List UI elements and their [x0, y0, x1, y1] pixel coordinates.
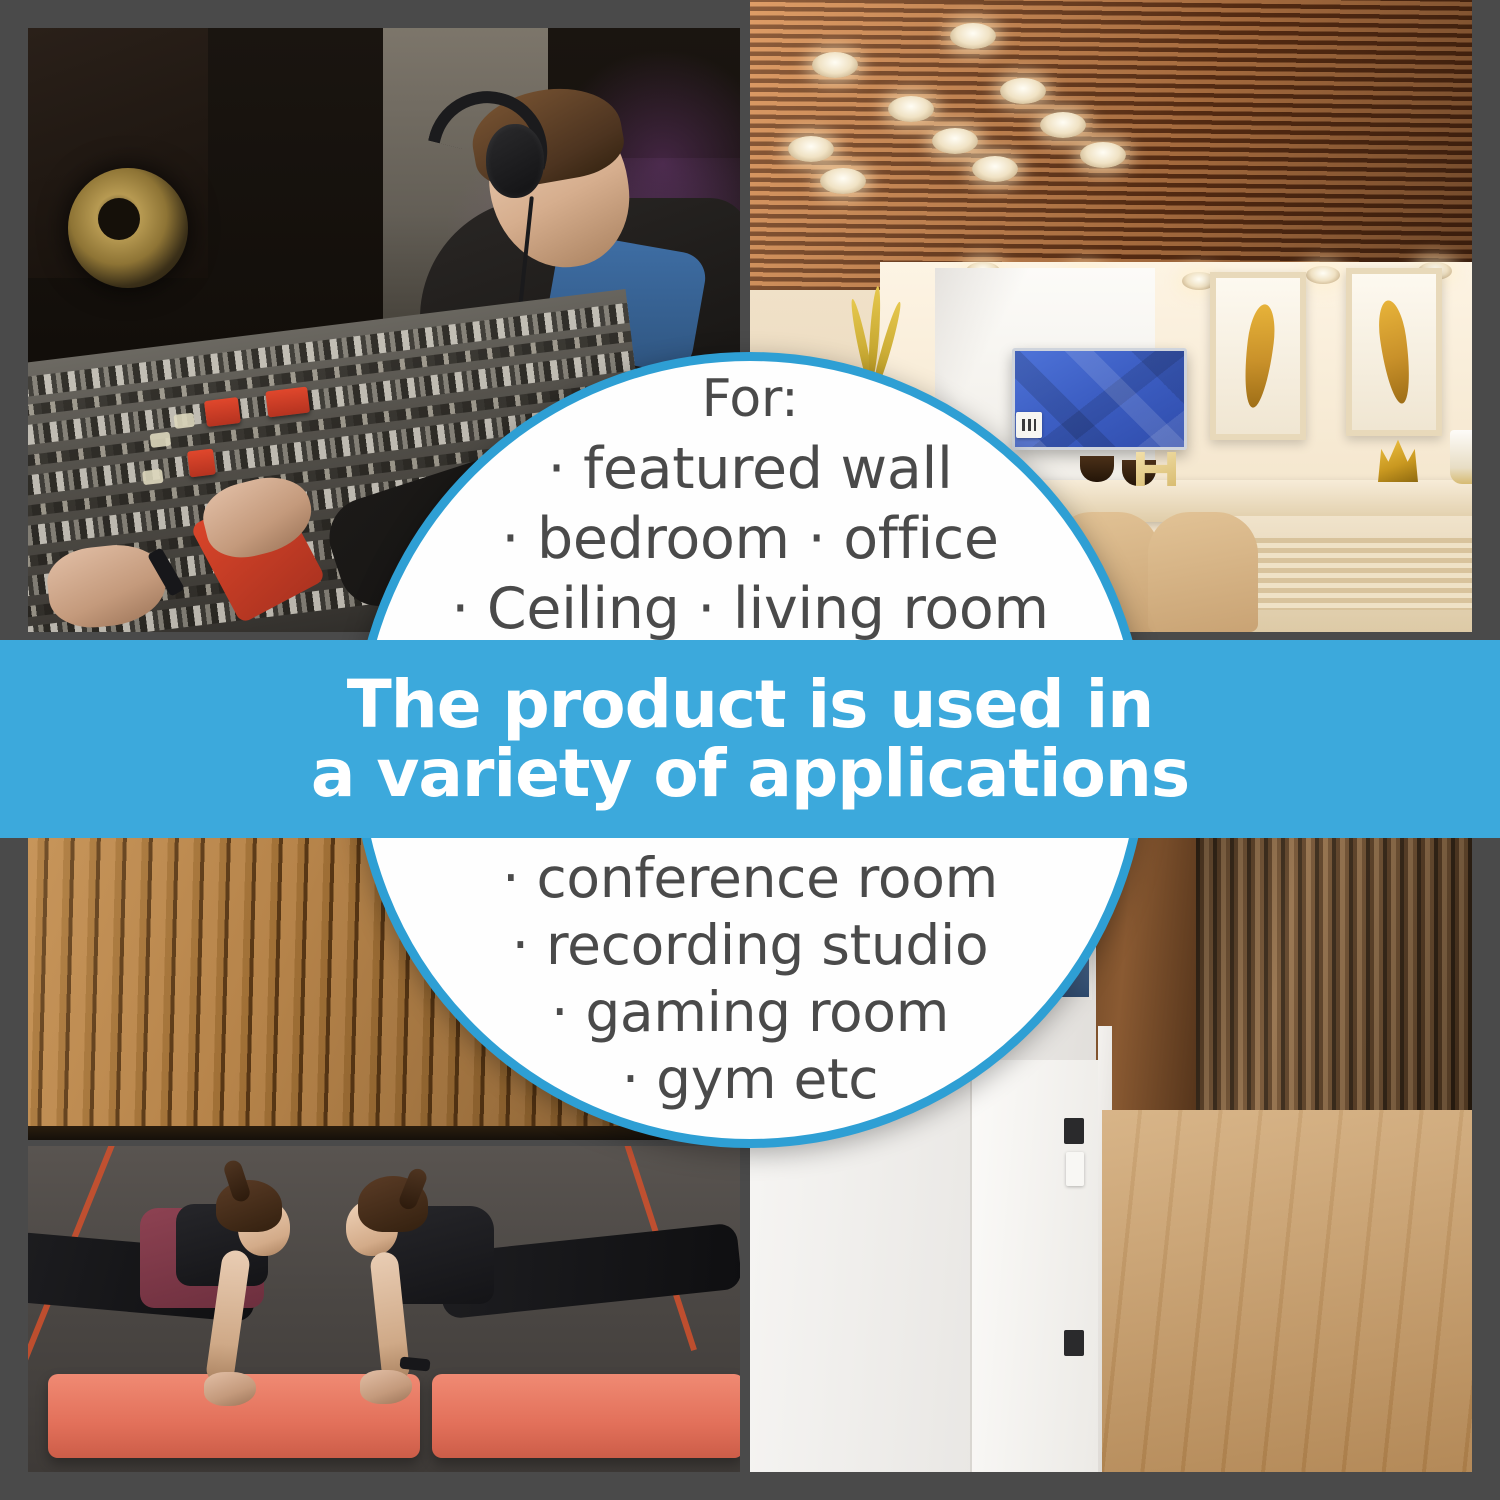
- console-button-red: [265, 387, 310, 418]
- ceiling-downlight: [972, 156, 1018, 182]
- ceiling-downlight: [1040, 112, 1086, 138]
- console-button-cream: [173, 413, 195, 429]
- console-button-cream: [150, 432, 172, 448]
- hallway-light-switch: [1064, 1330, 1084, 1356]
- person-left-hair: [216, 1180, 282, 1232]
- headline-banner: The product is used in a variety of appl…: [0, 640, 1500, 838]
- speaker-cone: [98, 198, 140, 240]
- ceiling-downlight: [950, 23, 996, 49]
- ceiling-downlight: [820, 168, 866, 194]
- headline-line-2: a variety of applications: [311, 739, 1189, 808]
- light-switch-plate: [1016, 412, 1042, 438]
- feather-art-frame: [1210, 272, 1306, 440]
- ceiling-downlight: [812, 52, 858, 78]
- recessed-ceiling-light: [1306, 266, 1340, 284]
- headphones-earcup: [486, 124, 544, 198]
- hallway-floor-shading: [1102, 1110, 1500, 1472]
- gold-feather: [1375, 299, 1415, 406]
- person-left-hand: [204, 1372, 256, 1406]
- hallway-switch-plate: [1066, 1152, 1084, 1186]
- feather-art-frame: [1346, 268, 1442, 436]
- console-button-cream: [142, 469, 164, 485]
- ceiling-downlight: [1080, 142, 1126, 168]
- console-button-red: [204, 397, 241, 427]
- ceiling-downlight: [888, 96, 934, 122]
- ceiling-downlight: [932, 128, 978, 154]
- gold-feather: [1240, 303, 1278, 409]
- ceiling-downlight: [788, 136, 834, 162]
- hallway-light-switch: [1064, 1118, 1084, 1144]
- headline-line-1: The product is used in: [347, 670, 1154, 739]
- frame-edge-top: [0, 0, 750, 28]
- frame-edge-bottom: [0, 1472, 1500, 1500]
- product-applications-graphic: For: · featured wall · bedroom · office …: [0, 0, 1500, 1500]
- yoga-mat: [432, 1374, 740, 1458]
- console-button-red: [187, 448, 216, 477]
- gym-photo: [28, 1146, 740, 1472]
- office-chair: [1148, 512, 1258, 632]
- person-right-hand: [360, 1370, 412, 1404]
- frame-gutter-gym-top: [0, 1140, 750, 1146]
- ceiling-downlight: [1000, 78, 1046, 104]
